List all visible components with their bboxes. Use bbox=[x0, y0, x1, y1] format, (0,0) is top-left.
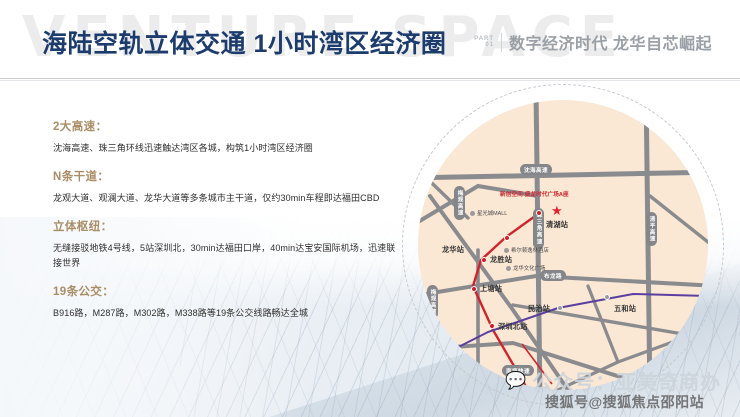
section-heading: N条干道： bbox=[53, 168, 403, 184]
header-divider bbox=[501, 33, 502, 52]
header-subtitle: 数字经济时代 龙华自芯崛起 bbox=[509, 30, 712, 54]
map-leader-line bbox=[402, 84, 732, 384]
section-body: 无缝接驳地铁4号线，5站深圳北，30min达福田口岸，40min达宝安国际机场，… bbox=[53, 241, 403, 273]
header-right-group: PART 01 数字经济时代 龙华自芯崛起 bbox=[474, 30, 712, 54]
section-heading: 19条公交： bbox=[53, 283, 403, 299]
watermark-wechat-text: 公众号：亚美奇商办 bbox=[532, 366, 721, 395]
page-title: 海陆空轨立体交通 1小时湾区经济圈 bbox=[42, 31, 446, 59]
wechat-icon: 💬 bbox=[505, 371, 527, 391]
header-rule bbox=[0, 78, 740, 79]
section-heading: 2大高速： bbox=[53, 118, 403, 134]
header-rule-secondary bbox=[0, 80, 740, 81]
section-body: B916路，M287路，M302路，M338路等19条公交线路畅达全城 bbox=[53, 306, 403, 322]
part-number: 01 bbox=[485, 42, 494, 48]
location-map: 沈海高速 梅观高速 梅观高速 珠三角高速 清平高速 布龙路 南坪快速 新创空间·… bbox=[402, 84, 732, 384]
content-column: 2大高速： 沈海高速、珠三角环线迅速触达湾区各城，构筑1小时湾区经济圈 N条干道… bbox=[53, 118, 403, 333]
content-section: N条干道： 龙观大道、观澜大道、龙华大道等多条城市主干道，仅约30min车程即达… bbox=[53, 168, 403, 207]
content-section: 立体枢纽： 无缝接驳地铁4号线，5站深圳北，30min达福田口岸，40min达宝… bbox=[53, 218, 403, 273]
slide-root: VENTURE SPACE 海陆空轨立体交通 1小时湾区经济圈 PART 01 … bbox=[0, 0, 740, 417]
part-indicator: PART 01 bbox=[474, 36, 494, 49]
content-section: 19条公交： B916路，M287路，M302路，M338路等19条公交线路畅达… bbox=[53, 283, 403, 322]
section-heading: 立体枢纽： bbox=[53, 218, 403, 234]
section-body: 沈海高速、珠三角环线迅速触达湾区各城，构筑1小时湾区经济圈 bbox=[53, 141, 403, 157]
watermark-wechat: 💬 公众号：亚美奇商办 bbox=[505, 366, 721, 395]
section-body: 龙观大道、观澜大道、龙华大道等多条城市主干道，仅约30min车程即达福田CBD bbox=[53, 191, 403, 207]
watermark-sohu: 搜狐号@搜狐焦点邵阳站 bbox=[545, 392, 704, 412]
content-section: 2大高速： 沈海高速、珠三角环线迅速触达湾区各城，构筑1小时湾区经济圈 bbox=[53, 118, 403, 157]
